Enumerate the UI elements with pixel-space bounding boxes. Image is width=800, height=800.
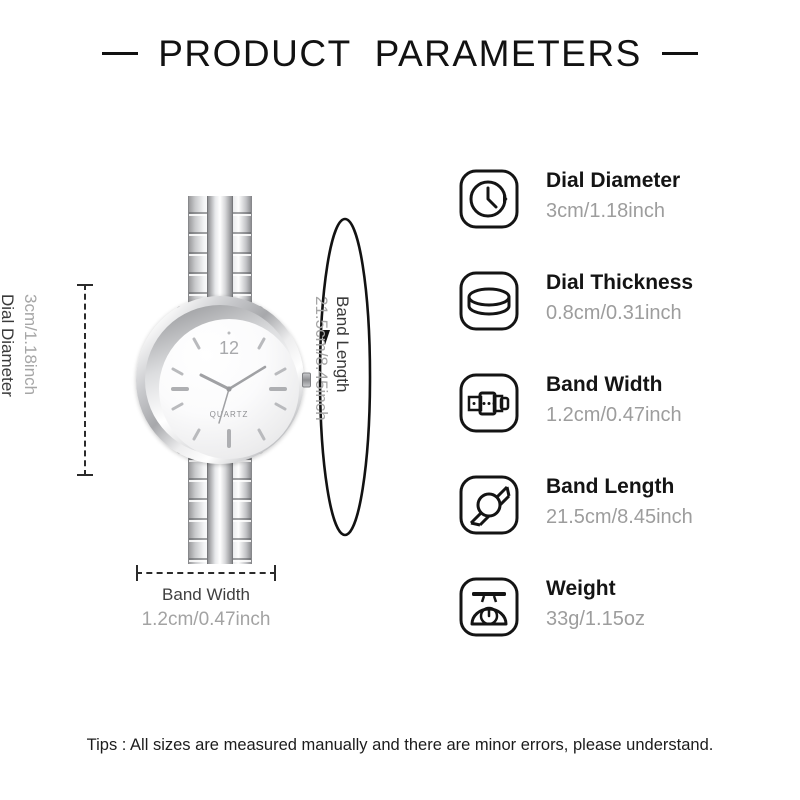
footer-tips: Tips : All sizes are measured manually a… <box>0 736 800 755</box>
measure-cap-left <box>136 565 138 581</box>
measure-dashed-line-h <box>136 572 276 574</box>
spec-value: 33g/1.15oz <box>546 604 645 634</box>
spec-label: Band Width <box>546 370 682 400</box>
product-parameters-infographic: PRODUCT PARAMETERS <box>0 0 800 800</box>
measure-dashed-line <box>84 284 86 476</box>
spec-text-band-length: Band Length 21.5cm/8.45inch <box>546 472 693 532</box>
spec-text-dial-diameter: Dial Diameter 3cm/1.18inch <box>546 166 680 226</box>
band-width-annotation-label: Band Width <box>96 583 316 607</box>
band-width-measure-line <box>136 572 276 574</box>
spec-value: 0.8cm/0.31inch <box>546 298 693 328</box>
dial-diameter-measure-line <box>84 284 86 476</box>
spec-row-band-width: Band Width 1.2cm/0.47inch <box>458 372 778 474</box>
band-length-annotation-label: Band Length <box>332 296 352 392</box>
spec-label: Dial Thickness <box>546 268 693 298</box>
dial-diameter-annotation-value: 3cm/1.18inch <box>14 294 40 474</box>
band-length-annotation-value: 21.5cm/8.45inch <box>311 296 331 421</box>
watch-case: 12 QUARTZ <box>136 296 304 464</box>
watch-strap-icon <box>458 474 520 536</box>
measure-cap-bottom <box>77 474 93 476</box>
measure-cap-right <box>274 565 276 581</box>
spec-text-weight: Weight 33g/1.15oz <box>546 574 645 634</box>
spec-row-weight: Weight 33g/1.15oz <box>458 576 778 678</box>
spec-value: 3cm/1.18inch <box>546 196 680 226</box>
spec-label: Weight <box>546 574 645 604</box>
watch-crown <box>302 373 311 388</box>
svg-text:QUARTZ: QUARTZ <box>210 410 249 419</box>
spec-list: Dial Diameter 3cm/1.18inch Dial Thicknes… <box>458 168 778 678</box>
disc-thickness-icon <box>458 270 520 332</box>
band-width-annotation-value: 1.2cm/0.47inch <box>96 607 316 633</box>
watch-face-icon <box>458 168 520 230</box>
watch-bezel: 12 QUARTZ <box>145 305 295 455</box>
title-dash-right-icon <box>662 52 698 55</box>
spec-label: Band Length <box>546 472 693 502</box>
spec-text-dial-thickness: Dial Thickness 0.8cm/0.31inch <box>546 268 693 328</box>
spec-value: 1.2cm/0.47inch <box>546 400 682 430</box>
dial-markings-icon: 12 QUARTZ <box>159 319 299 459</box>
spec-value: 21.5cm/8.45inch <box>546 502 693 532</box>
watch-dial: 12 QUARTZ <box>159 319 299 459</box>
spec-label: Dial Diameter <box>546 166 680 196</box>
spec-row-dial-thickness: Dial Thickness 0.8cm/0.31inch <box>458 270 778 372</box>
product-photo: 12 QUARTZ <box>132 196 308 564</box>
spec-row-dial-diameter: Dial Diameter 3cm/1.18inch <box>458 168 778 270</box>
spec-text-band-width: Band Width 1.2cm/0.47inch <box>546 370 682 430</box>
spec-row-band-length: Band Length 21.5cm/8.45inch <box>458 474 778 576</box>
svg-text:12: 12 <box>219 338 239 358</box>
kitchen-scale-icon <box>458 576 520 638</box>
band-width-annotation: Band Width 1.2cm/0.47inch <box>96 583 316 633</box>
measure-cap-top <box>77 284 93 286</box>
watch-clasp-icon <box>458 372 520 434</box>
title-dash-left-icon <box>102 52 138 55</box>
page-title: PRODUCT PARAMETERS <box>158 35 642 72</box>
page-title-row: PRODUCT PARAMETERS <box>0 26 800 80</box>
